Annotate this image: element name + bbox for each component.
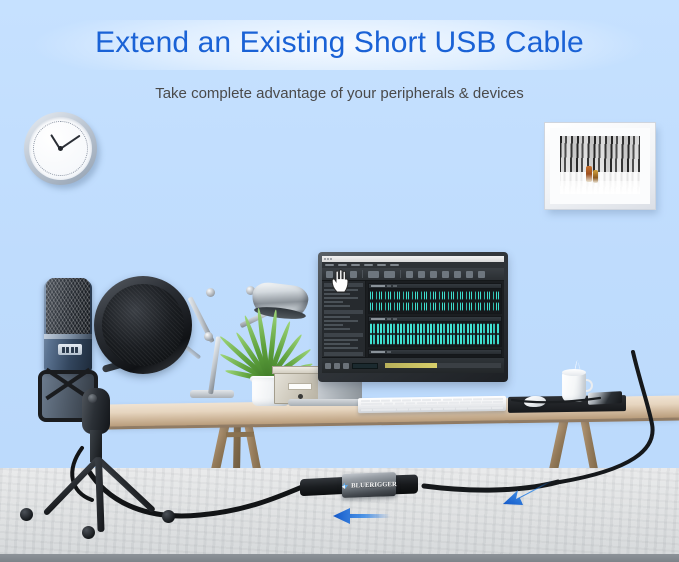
key[interactable] [422,399,431,401]
window-control-dot[interactable] [324,258,326,260]
key[interactable] [392,399,401,401]
track-name-label [371,351,385,353]
desk-leg-brace [226,432,254,437]
toolbar-button[interactable] [406,271,413,278]
track-control[interactable] [387,351,391,353]
time-display [352,363,378,369]
sidebar-row[interactable] [324,301,343,304]
toolbar-button[interactable] [430,271,437,278]
monitor-screen[interactable] [322,256,504,373]
pop-filter-mesh [102,284,184,366]
badge-segment [66,347,69,353]
key[interactable] [433,408,444,410]
arrow-down-left-icon [500,478,554,508]
key[interactable] [416,405,426,407]
product-scene: Extend an Existing Short USB Cable Take … [0,0,679,562]
key[interactable] [443,399,452,401]
track-control[interactable] [387,285,391,287]
play-button[interactable] [325,363,331,369]
lamp-arm [208,336,221,394]
audio-track[interactable] [368,349,502,357]
badge-segment [75,347,78,353]
tripod-foot [162,510,175,523]
key[interactable] [412,399,421,401]
tripod-leg [95,458,105,532]
floor-bottom-strip [0,554,679,562]
microphone-grille [46,278,90,334]
waveform-lane[interactable] [368,354,502,357]
arrow-left-icon [330,505,392,527]
sidebar-row[interactable] [324,305,350,308]
lamp-joint [204,332,213,341]
sidebar-row[interactable] [324,324,343,327]
wall-clock [22,110,100,192]
key[interactable] [427,405,437,407]
badge-segment [62,347,65,353]
key[interactable] [449,405,459,407]
mug-body [562,372,586,402]
key[interactable] [444,408,455,410]
sidebar-row[interactable] [324,316,350,319]
bluerigger-logo-icon [341,482,349,490]
tripod-foot [20,508,33,521]
toolbar-button[interactable] [350,271,357,278]
coffee-mug [562,368,592,402]
key[interactable] [493,401,503,403]
key[interactable] [361,409,372,411]
spacebar-key[interactable] [468,407,491,409]
window-control-dot[interactable] [330,258,332,260]
key[interactable] [395,402,405,404]
app-toolbar[interactable] [322,268,504,281]
audio-waveform [370,301,500,312]
toolbar-button[interactable] [384,271,395,278]
key[interactable] [409,408,420,410]
key[interactable] [471,401,481,403]
sidebar-group-header [324,310,363,314]
key[interactable] [427,402,437,404]
toolbar-separator [362,270,363,278]
toolbar-separator [400,270,401,278]
key[interactable] [456,408,467,410]
clock-center-cap [58,146,63,151]
audio-waveform [370,323,500,334]
key[interactable] [432,399,441,401]
framed-wall-art [544,122,656,210]
key[interactable] [473,398,482,400]
sidebar-group-header [324,352,363,356]
level-meter [385,363,501,368]
stop-button[interactable] [334,363,340,369]
toolbar-button[interactable] [442,271,449,278]
audio-track[interactable] [368,316,502,347]
key[interactable] [460,401,470,403]
key[interactable] [397,409,408,411]
lamp-joint [206,288,215,297]
pointing-hand-cursor [330,268,349,293]
key[interactable] [394,406,404,408]
pivot-adjustment-screw[interactable] [88,394,97,403]
tripod-leg [95,456,156,514]
audio-waveform [370,334,500,345]
sidebar-row[interactable] [324,297,358,300]
key[interactable] [406,402,416,404]
key[interactable] [421,408,432,410]
microphone-trim-ring [44,334,92,339]
menu-item[interactable] [390,264,399,266]
keyboard[interactable] [358,396,506,413]
storage-box-label [288,383,312,390]
menu-item[interactable] [325,264,334,266]
key[interactable] [361,406,382,408]
key[interactable] [384,403,394,405]
track-name-label [371,318,385,320]
window-control-dot[interactable] [327,258,329,260]
key[interactable] [402,399,411,401]
app-body [322,281,504,357]
sidebar-row[interactable] [324,328,350,331]
toolbar-button[interactable] [454,271,461,278]
microphone-control-badge[interactable] [58,344,82,355]
key[interactable] [482,401,492,403]
sidebar-row[interactable] [324,320,358,323]
mug-rim [562,369,586,376]
key[interactable] [453,399,462,401]
menu-item[interactable] [377,264,386,266]
toolbar-button[interactable] [478,271,485,278]
brand-label: BLUERIGGER [351,481,397,490]
badge-segment [71,347,74,353]
track-area[interactable] [366,281,504,357]
key[interactable] [438,405,448,407]
audio-waveform [370,290,500,301]
subheadline: Take complete advantage of your peripher… [0,85,679,102]
toolbar-button[interactable] [418,271,425,278]
key[interactable] [449,402,459,404]
artwork-figure-2 [593,170,598,183]
key[interactable] [483,398,503,400]
condenser-microphone [16,262,186,542]
headline: Extend an Existing Short USB Cable [0,26,679,60]
sidebar-group [324,333,363,349]
key[interactable] [492,407,503,409]
sidebar-row[interactable] [324,339,358,342]
artwork-figure [586,166,592,182]
sidebar-row[interactable] [324,343,350,346]
menu-item[interactable] [338,264,347,266]
track-control[interactable] [393,318,397,320]
key[interactable] [460,405,470,407]
sidebar-group-header [324,333,363,337]
waveform-lane[interactable] [368,321,502,347]
key[interactable] [438,402,448,404]
key[interactable] [384,406,394,408]
tripod-leg [43,456,101,516]
key[interactable] [471,404,481,406]
audio-editor-window[interactable] [322,256,504,373]
adapter-body: BLUERIGGER [342,472,396,498]
waveform-lane[interactable] [368,288,502,314]
sidebar-row[interactable] [324,347,358,350]
key[interactable] [361,400,370,402]
usb-extension-adapter[interactable]: BLUERIGGER [300,470,425,502]
artwork-image [560,136,640,194]
key[interactable] [381,400,390,402]
audio-track[interactable] [368,283,502,314]
key[interactable] [361,403,382,405]
artwork-snow-ground [560,181,640,194]
key[interactable] [373,409,396,411]
transport-bar[interactable] [322,357,504,373]
key[interactable] [482,404,503,406]
sidebar-group [324,310,363,330]
key[interactable] [405,405,415,407]
track-name-label [371,285,385,287]
key[interactable] [463,398,472,400]
track-control[interactable] [393,285,397,287]
menu-item[interactable] [364,264,373,266]
toolbar-button[interactable] [466,271,473,278]
key[interactable] [371,400,380,402]
track-control[interactable] [387,318,391,320]
record-button[interactable] [343,363,349,369]
key[interactable] [417,402,427,404]
usb-hub-device[interactable] [588,391,622,405]
toolbar-button[interactable] [368,271,379,278]
tripod-foot [82,526,95,539]
audio-waveform [370,356,500,357]
menu-item[interactable] [351,264,360,266]
